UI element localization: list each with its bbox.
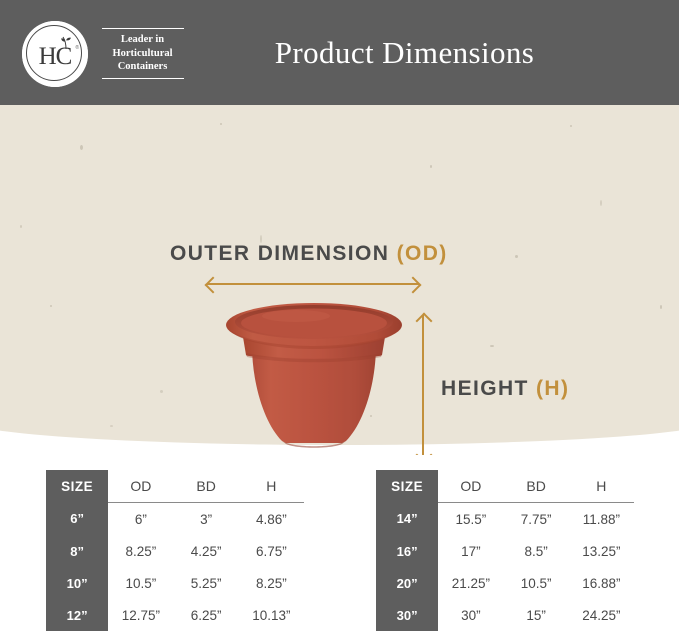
cell-size: 8”: [46, 535, 108, 567]
cell-od: 17”: [438, 535, 503, 567]
cell-h: 11.88”: [569, 503, 634, 536]
page-header: HC ® Leader in Horticultural Containers …: [0, 0, 679, 105]
table-row: 30” 30” 15” 24.25”: [376, 599, 634, 631]
column-header-bd: BD: [503, 470, 568, 503]
tagline-line-2: Horticultural: [100, 47, 185, 61]
cell-bd: 6.25”: [173, 599, 238, 631]
arrow-head-bottom: [416, 447, 433, 455]
tagline-line-3: Containers: [100, 60, 185, 74]
planter-pot-illustration: [224, 301, 404, 455]
dimension-table-left: SIZE OD BD H 6” 6” 3” 4.86” 8” 8.25” 4.2…: [46, 470, 304, 631]
cell-size: 12”: [46, 599, 108, 631]
cell-bd: 3”: [173, 503, 238, 536]
cell-bd: 8.5”: [503, 535, 568, 567]
table-row: 20” 21.25” 10.5” 16.88”: [376, 567, 634, 599]
table-row: 14” 15.5” 7.75” 11.88”: [376, 503, 634, 536]
trademark-mark: ®: [75, 45, 79, 51]
logo-circle: HC ®: [22, 21, 88, 87]
cell-size: 10”: [46, 567, 108, 599]
cell-bd: 7.75”: [503, 503, 568, 536]
height-arrow: [417, 315, 429, 455]
cell-bd: 10.5”: [503, 567, 568, 599]
leaf-sprig-icon: [58, 34, 74, 55]
tagline-rule-top: [102, 28, 184, 29]
outer-dimension-tag: (OD): [397, 242, 448, 265]
outer-dimension-arrow: [207, 278, 419, 290]
cell-h: 16.88”: [569, 567, 634, 599]
cell-size: 16”: [376, 535, 438, 567]
column-header-h: H: [569, 470, 634, 503]
dimension-table-right: SIZE OD BD H 14” 15.5” 7.75” 11.88” 16” …: [376, 470, 634, 631]
outer-dimension-text: OUTER DIMENSION: [170, 242, 389, 265]
arrow-shaft: [422, 315, 424, 455]
table-row: 16” 17” 8.5” 13.25”: [376, 535, 634, 567]
height-tag: (H): [536, 377, 569, 400]
cell-h: 24.25”: [569, 599, 634, 631]
brand-tagline: Leader in Horticultural Containers: [100, 28, 185, 79]
column-header-bd: BD: [173, 470, 238, 503]
outer-dimension-label: OUTER DIMENSION (OD): [170, 242, 448, 266]
cell-h: 8.25”: [239, 567, 304, 599]
cell-h: 13.25”: [569, 535, 634, 567]
dimension-tables: SIZE OD BD H 6” 6” 3” 4.86” 8” 8.25” 4.2…: [0, 470, 679, 636]
cell-od: 8.25”: [108, 535, 173, 567]
brand-logo: HC ®: [22, 21, 88, 87]
cell-size: 30”: [376, 599, 438, 631]
tagline-line-1: Leader in: [100, 33, 185, 47]
arrow-shaft: [207, 283, 419, 285]
cell-od: 10.5”: [108, 567, 173, 599]
table-row: 6” 6” 3” 4.86”: [46, 503, 304, 536]
cell-h: 4.86”: [239, 503, 304, 536]
table-row: 8” 8.25” 4.25” 6.75”: [46, 535, 304, 567]
table-row: 12” 12.75” 6.25” 10.13”: [46, 599, 304, 631]
cell-bd: 15”: [503, 599, 568, 631]
cell-size: 6”: [46, 503, 108, 536]
cell-bd: 4.25”: [173, 535, 238, 567]
cell-od: 6”: [108, 503, 173, 536]
cell-od: 12.75”: [108, 599, 173, 631]
column-header-od: OD: [108, 470, 173, 503]
column-header-od: OD: [438, 470, 503, 503]
column-header-h: H: [239, 470, 304, 503]
tagline-rule-bottom: [102, 78, 184, 79]
column-header-size: SIZE: [376, 470, 438, 503]
height-text: HEIGHT: [441, 377, 529, 400]
column-header-size: SIZE: [46, 470, 108, 503]
cell-bd: 5.25”: [173, 567, 238, 599]
cell-od: 15.5”: [438, 503, 503, 536]
table-row: 10” 10.5” 5.25” 8.25”: [46, 567, 304, 599]
cell-od: 21.25”: [438, 567, 503, 599]
cell-h: 6.75”: [239, 535, 304, 567]
cell-od: 30”: [438, 599, 503, 631]
cell-size: 20”: [376, 567, 438, 599]
diagram-panel: OUTER DIMENSION (OD) HEIGHT (H) BASE DIM…: [0, 105, 679, 455]
height-label: HEIGHT (H): [441, 377, 569, 401]
cell-h: 10.13”: [239, 599, 304, 631]
table-header-row: SIZE OD BD H: [46, 470, 304, 503]
cell-size: 14”: [376, 503, 438, 536]
table-header-row: SIZE OD BD H: [376, 470, 634, 503]
